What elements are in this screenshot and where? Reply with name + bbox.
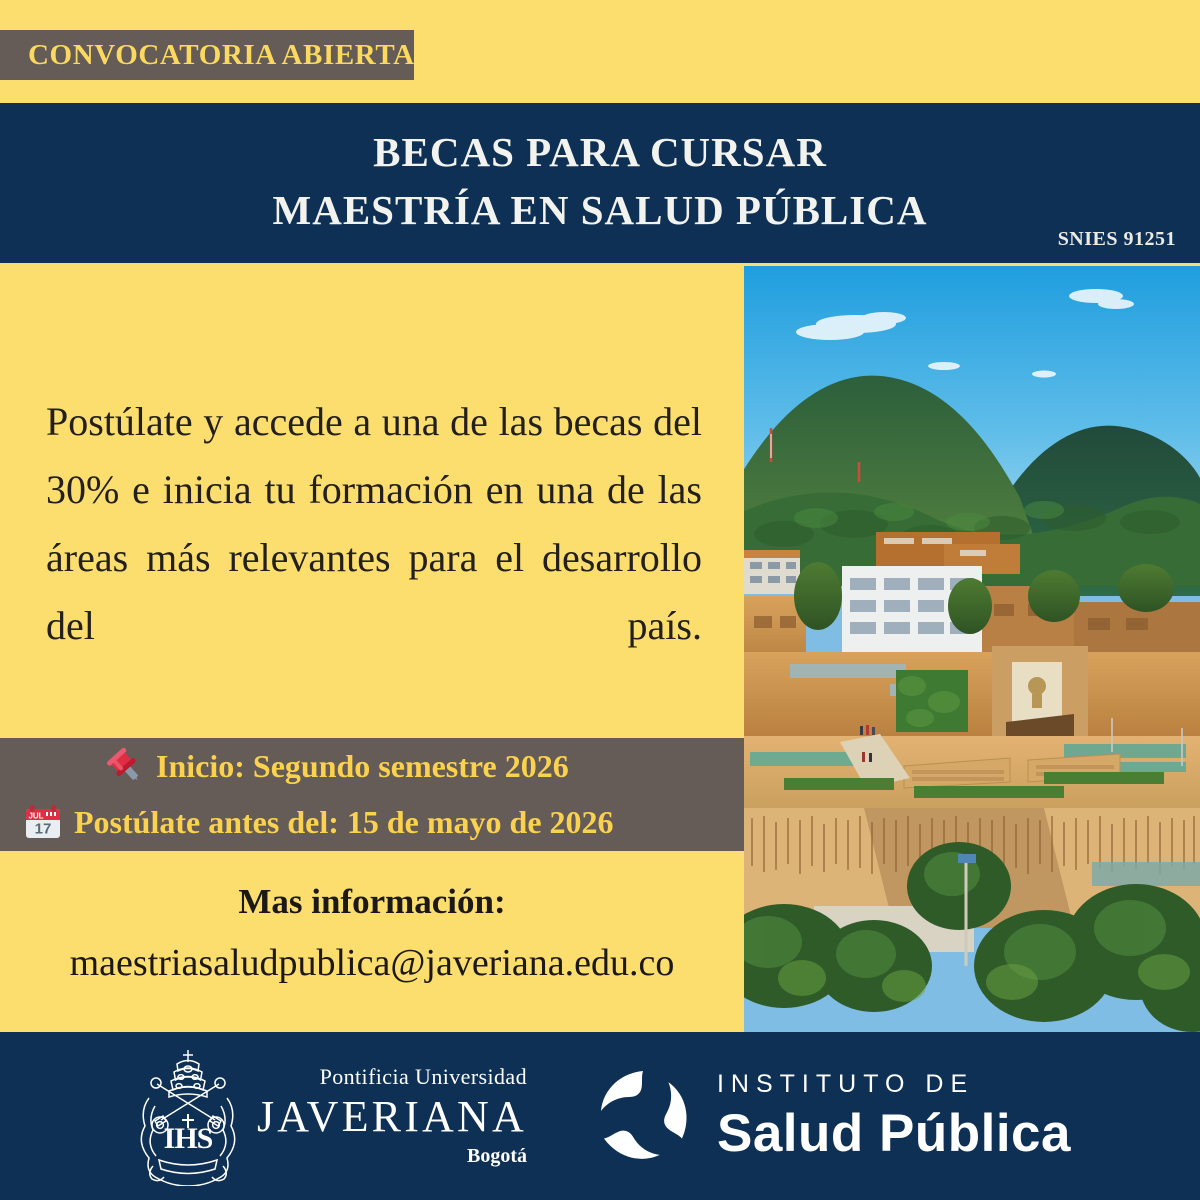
javeriana-line-3: Bogotá: [257, 1146, 527, 1166]
instituto-wordmark: INSTITUTO DE Salud Pública: [717, 1072, 1071, 1160]
deadline-date-label: Postúlate antes del: 15 de mayo de 2026: [74, 804, 614, 841]
snies-code: SNIES 91251: [1058, 228, 1176, 251]
calendar-month-label: JUL: [28, 812, 43, 821]
campus-photo: [744, 266, 1200, 1032]
pushpin-icon: [104, 745, 146, 787]
page-title: BECAS PARA CURSAR MAESTRÍA EN SALUD PÚBL…: [0, 123, 1200, 239]
contact-heading: Mas información:: [0, 878, 744, 926]
javeriana-crest-ihs-icon: IHS: [129, 1046, 247, 1186]
javeriana-line-1: Pontificia Universidad: [257, 1066, 527, 1088]
title-line-1: BECAS PARA CURSAR: [0, 123, 1200, 181]
top-strip: CONVOCATORIA ABIERTA: [0, 0, 1200, 103]
callout-badge-label: CONVOCATORIA ABIERTA: [28, 39, 415, 72]
deadline-date-row: JUL 17 Postúlate antes del: 15 de mayo d…: [0, 794, 744, 850]
calendar-icon: JUL 17: [22, 801, 64, 843]
instituto-line-2: Salud Pública: [717, 1107, 1071, 1160]
callout-badge: CONVOCATORIA ABIERTA: [0, 30, 414, 80]
contact-block: Mas información: maestriasaludpublica@ja…: [0, 878, 744, 992]
javeriana-wordmark: Pontificia Universidad JAVERIANA Bogotá: [257, 1066, 527, 1166]
start-date-row: Inicio: Segundo semestre 2026: [0, 738, 744, 794]
poster-root: CONVOCATORIA ABIERTA BECAS PARA CURSAR M…: [0, 0, 1200, 1200]
instituto-line-1: INSTITUTO DE: [717, 1072, 1071, 1097]
body-copy: Postúlate y accede a una de las becas de…: [46, 388, 702, 728]
instituto-salud-publica-logo: INSTITUTO DE Salud Pública: [591, 1063, 1071, 1169]
javeriana-logo: IHS Pontificia Universidad JAVERIANA Bog…: [129, 1046, 527, 1186]
footer: IHS Pontificia Universidad JAVERIANA Bog…: [0, 1032, 1200, 1200]
title-line-2: MAESTRÍA EN SALUD PÚBLICA: [0, 181, 1200, 239]
calendar-day-label: 17: [35, 821, 52, 838]
javeriana-line-2: JAVERIANA: [257, 1095, 527, 1139]
instituto-salud-publica-triskelion-icon: [591, 1063, 695, 1169]
dates-bar: Inicio: Segundo semestre 2026 JUL 17: [0, 738, 744, 851]
title-band: BECAS PARA CURSAR MAESTRÍA EN SALUD PÚBL…: [0, 103, 1200, 263]
start-date-label: Inicio: Segundo semestre 2026: [156, 748, 569, 785]
contact-email[interactable]: maestriasaludpublica@javeriana.edu.co: [0, 934, 744, 992]
